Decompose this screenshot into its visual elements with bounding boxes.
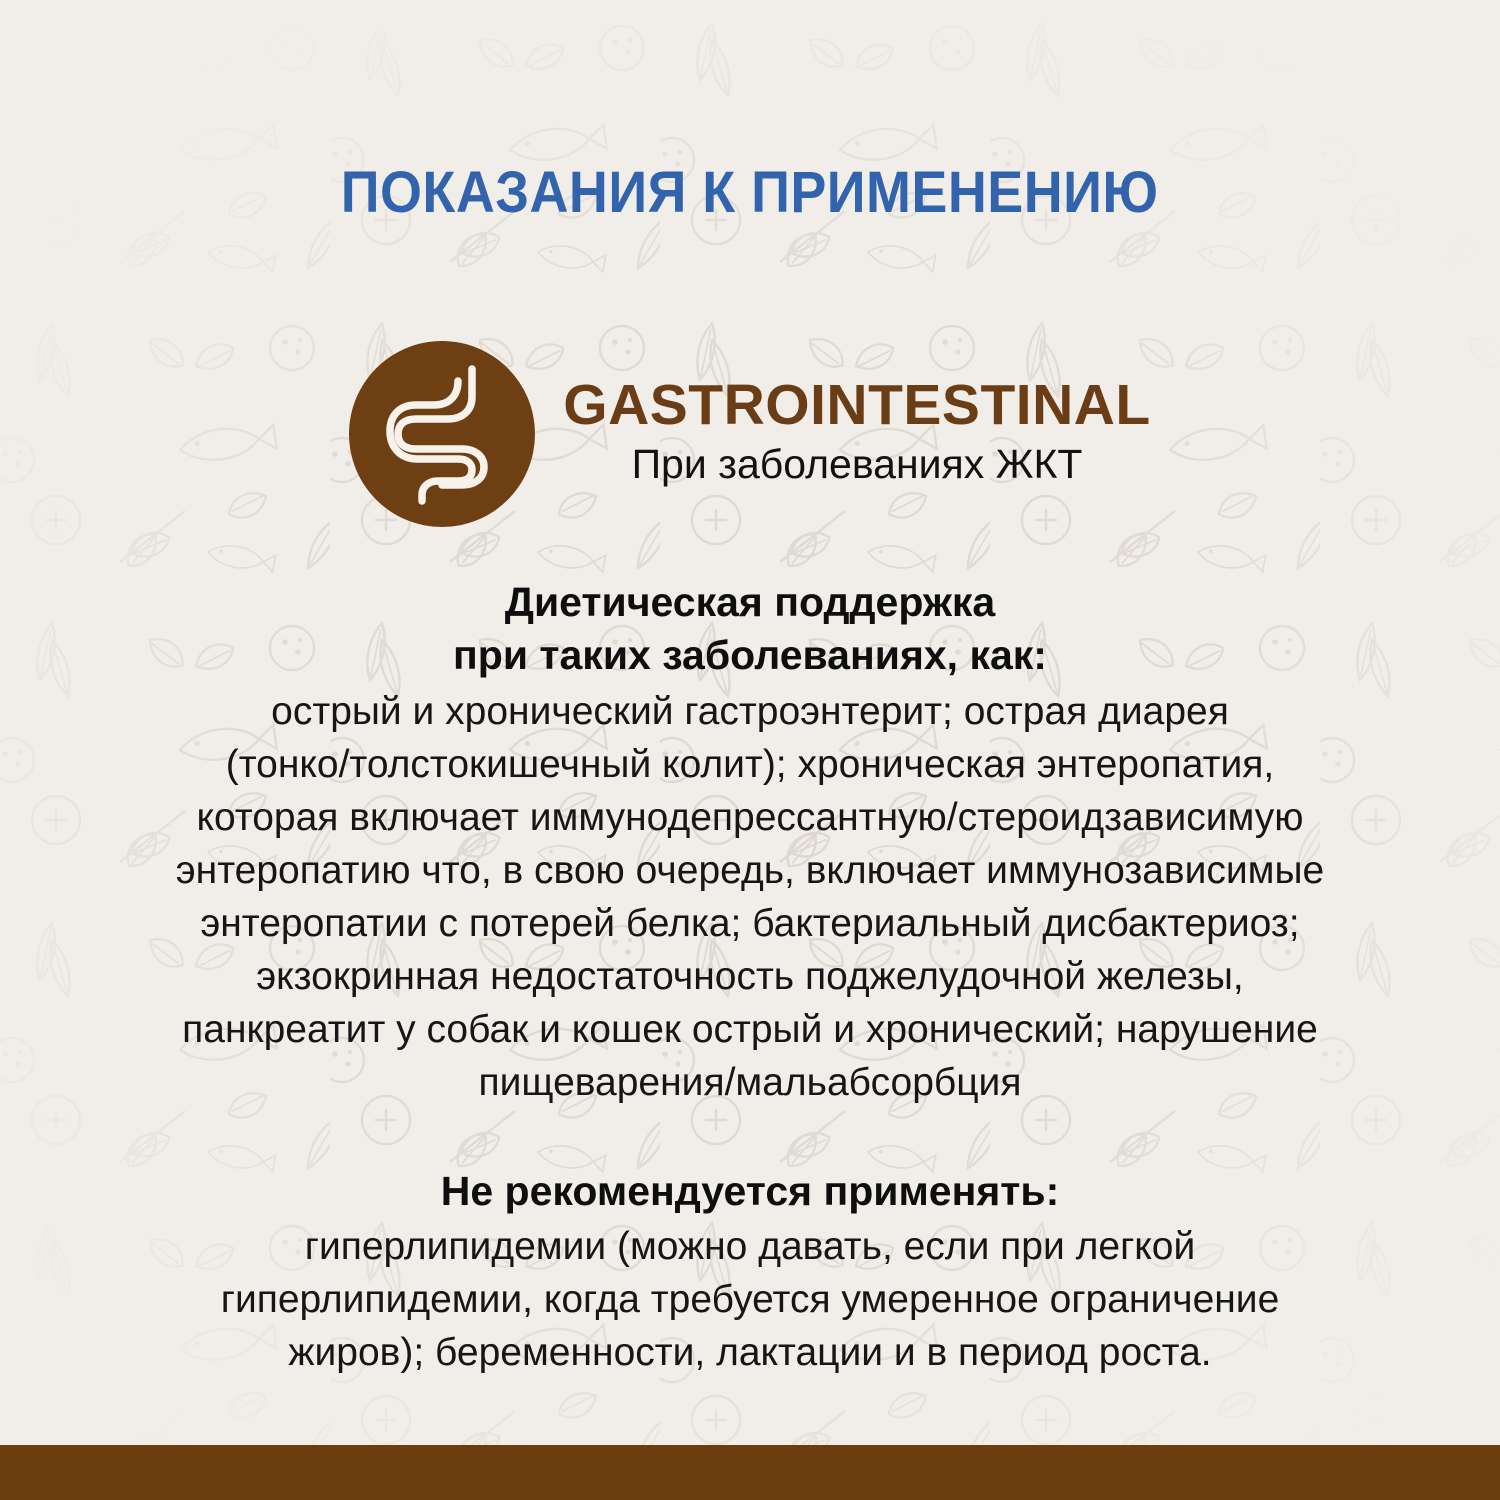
- intestine-icon: [384, 363, 500, 505]
- indications-title: Диетическая поддержка при таких заболева…: [60, 576, 1440, 683]
- brand-lockup: GASTROINTESTINAL При заболеваниях ЖКТ: [0, 341, 1500, 527]
- brand-inner: GASTROINTESTINAL При заболеваниях ЖКТ: [349, 341, 1151, 527]
- brand-badge: [349, 341, 535, 527]
- indications-block: Диетическая поддержка при таких заболева…: [60, 576, 1440, 1109]
- contraindications-text: гиперлипидемии (можно давать, если при л…: [60, 1220, 1440, 1379]
- brand-subtitle: При заболеваниях ЖКТ: [632, 440, 1083, 488]
- indications-text: острый и хронический гастроэнтерит; остр…: [60, 685, 1440, 1109]
- brand-words: GASTROINTESTINAL При заболеваниях ЖКТ: [563, 376, 1151, 493]
- contraindications-title: Не рекомендуется применять:: [60, 1165, 1440, 1218]
- brand-name: GASTROINTESTINAL: [563, 376, 1151, 434]
- page-title: ПОКАЗАНИЯ К ПРИМЕНЕНИЮ: [0, 163, 1500, 224]
- footer-bar: [0, 1445, 1500, 1500]
- page-title-text: ПОКАЗАНИЯ К ПРИМЕНЕНИЮ: [341, 163, 1159, 224]
- poster-canvas: ПОКАЗАНИЯ К ПРИМЕНЕНИЮ GASTR: [0, 0, 1500, 1500]
- contraindications-block: Не рекомендуется применять: гиперлипидем…: [60, 1165, 1440, 1379]
- body-copy: Диетическая поддержка при таких заболева…: [60, 576, 1440, 1379]
